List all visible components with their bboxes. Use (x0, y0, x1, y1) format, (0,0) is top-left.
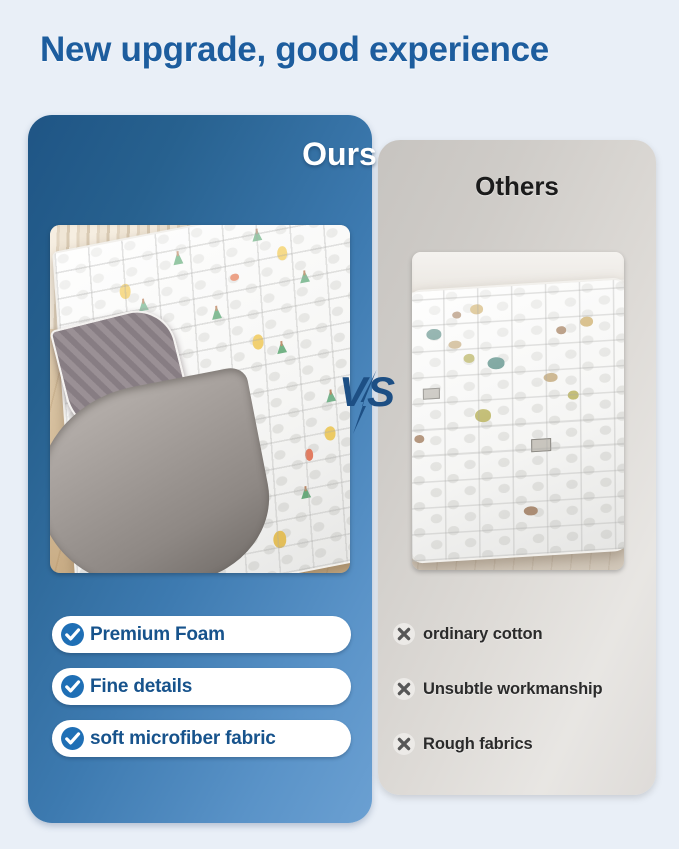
tree-motif (325, 389, 336, 403)
check-circle-icon (60, 726, 85, 751)
dog-motif (523, 506, 537, 516)
balloon-motif (277, 245, 288, 261)
fox-motif (230, 273, 239, 282)
x-circle-icon (392, 622, 416, 646)
page-title: New upgrade, good experience (40, 30, 648, 70)
drawback-label: ordinary cotton (423, 625, 543, 644)
house-motif (531, 437, 551, 451)
check-circle-icon (60, 674, 85, 699)
tree-motif (211, 305, 222, 320)
tree-motif (251, 228, 262, 242)
balloon-motif (567, 390, 578, 400)
dog-motif (452, 311, 461, 319)
drawback-rough-fabrics[interactable]: Rough fabrics (392, 726, 650, 762)
tree-motif (487, 357, 504, 370)
feature-pill-fine-details[interactable]: Fine details (52, 668, 351, 705)
check-circle-icon (60, 622, 85, 647)
balloon-motif (475, 409, 491, 423)
balloon-motif (252, 334, 264, 351)
cons-list: ordinary cotton Unsubtle workmanship Rou… (392, 616, 650, 781)
rocket-motif (305, 448, 314, 462)
tree-motif (299, 270, 310, 284)
squirrel-motif (544, 372, 558, 382)
x-circle-icon (392, 677, 416, 701)
tree-motif (173, 251, 184, 266)
balloon-motif (324, 425, 336, 441)
panel-others-heading: Others (378, 171, 656, 202)
product-photo-others (412, 252, 624, 570)
quilted-mat-others (412, 277, 624, 564)
feature-pill-premium-foam[interactable]: Premium Foam (52, 616, 351, 653)
x-circle-icon (392, 732, 416, 756)
balloon-motif (272, 530, 286, 550)
dog-motif (414, 434, 424, 443)
tree-motif (276, 340, 287, 354)
squirrel-motif (448, 340, 461, 349)
lion-motif (580, 316, 593, 327)
balloon-motif (463, 353, 474, 363)
feature-label: Premium Foam (90, 624, 225, 646)
product-photo-ours (50, 225, 350, 573)
feature-pill-soft-microfiber-fabric[interactable]: soft microfiber fabric (52, 720, 351, 757)
drawback-label: Unsubtle workmanship (423, 680, 603, 699)
feature-label: Fine details (90, 676, 192, 698)
drawback-unsubtle-workmanship[interactable]: Unsubtle workmanship (392, 671, 650, 707)
lion-motif (469, 304, 482, 315)
tree-motif (300, 485, 311, 499)
balloon-motif (119, 283, 131, 300)
feature-label: soft microfiber fabric (90, 728, 276, 750)
drawback-ordinary-cotton[interactable]: ordinary cotton (392, 616, 650, 652)
pros-list: Premium Foam Fine details soft microfibe… (52, 616, 351, 772)
vs-badge: VS (339, 366, 403, 438)
drawback-label: Rough fabrics (423, 735, 533, 754)
dog-motif (556, 326, 566, 335)
house-motif (423, 388, 440, 400)
tree-motif (426, 328, 441, 340)
